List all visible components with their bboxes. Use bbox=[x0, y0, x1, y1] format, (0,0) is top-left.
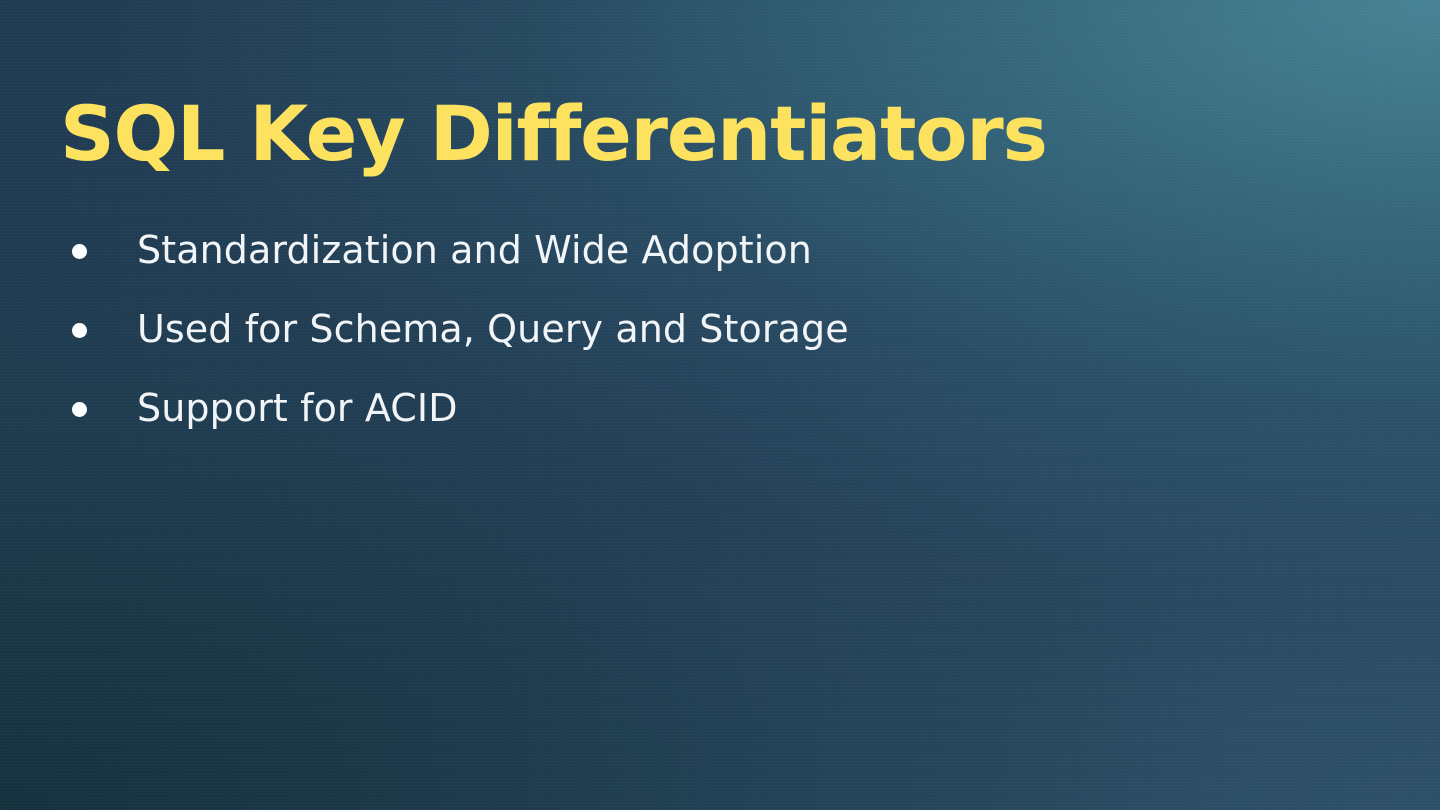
list-item: Used for Schema, Query and Storage bbox=[60, 301, 1360, 359]
bullet-item-label: Support for ACID bbox=[137, 385, 458, 433]
slide-title: SQL Key Differentiators bbox=[60, 93, 1300, 175]
bullet-list: Standardization and Wide Adoption Used f… bbox=[60, 222, 1360, 459]
bullet-dot-icon bbox=[72, 323, 87, 338]
list-item: Support for ACID bbox=[60, 380, 1360, 438]
list-item: Standardization and Wide Adoption bbox=[60, 222, 1360, 280]
bullet-dot-icon bbox=[72, 244, 87, 259]
bullet-dot-icon bbox=[72, 402, 87, 417]
bullet-item-label: Standardization and Wide Adoption bbox=[137, 227, 812, 275]
bullet-item-label: Used for Schema, Query and Storage bbox=[137, 306, 849, 354]
presentation-slide: SQL Key Differentiators Standardization … bbox=[0, 0, 1440, 810]
